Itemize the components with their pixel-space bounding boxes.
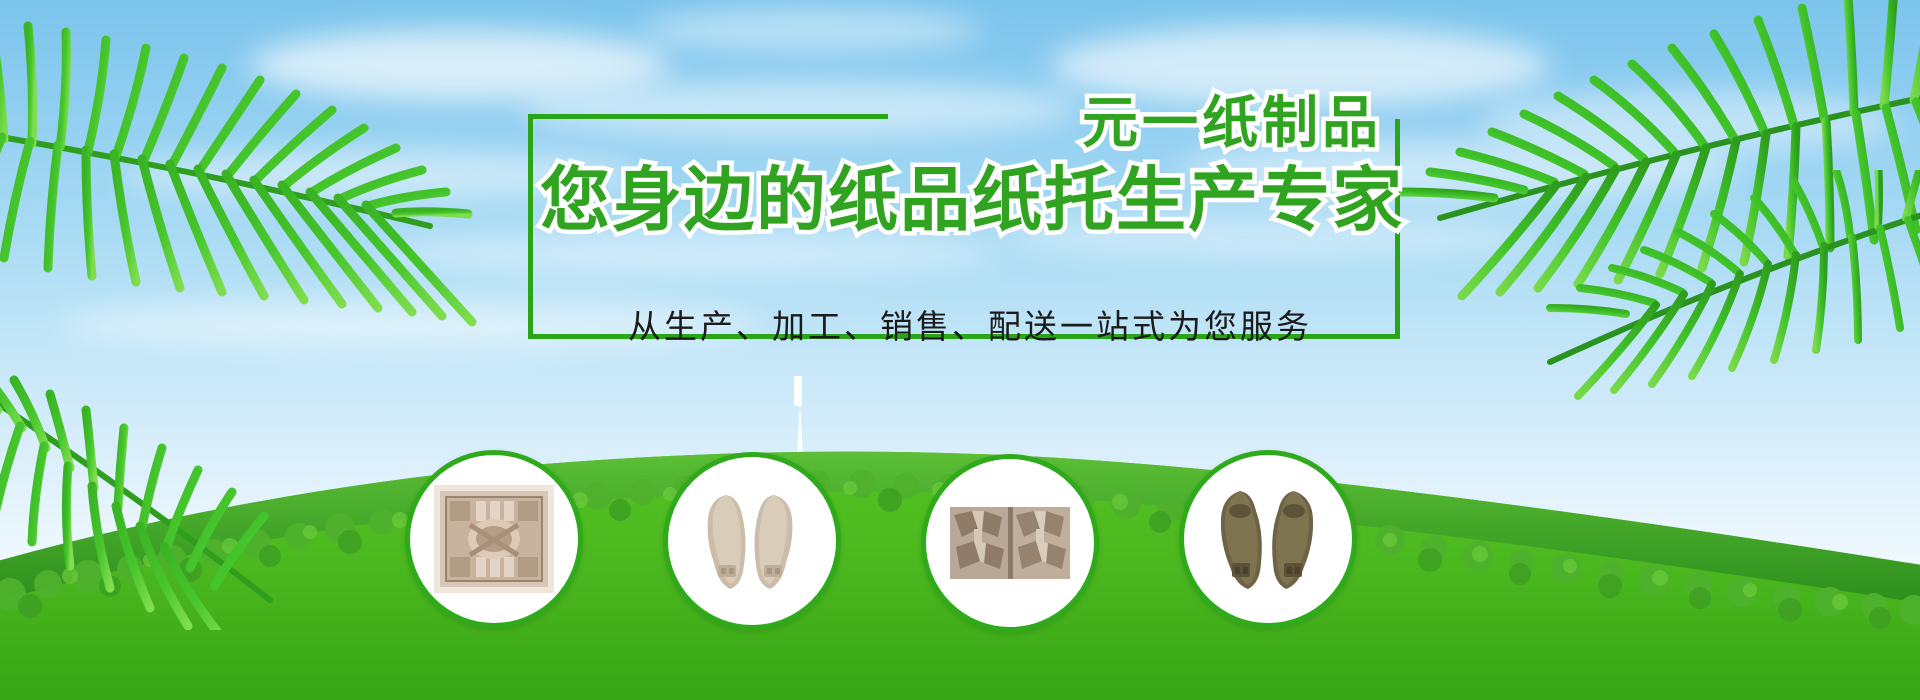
promotional-banner: 元一纸制品 您身边的纸品纸托生产专家 从生产、加工、销售、配送一站式为您服务: [0, 0, 1920, 700]
page-title: 您身边的纸品纸托生产专家: [540, 165, 1400, 235]
product-circle-3[interactable]: [921, 454, 1099, 632]
corner-trays-image: [948, 481, 1072, 605]
palm-frond-icon: [1520, 170, 1920, 430]
headline-block: 元一纸制品 您身边的纸品纸托生产专家: [540, 95, 1400, 235]
product-showcase: [405, 450, 1460, 650]
palm-frond-icon: [0, 330, 300, 630]
product-circle-1[interactable]: [405, 450, 583, 628]
dark-shoe-inserts-image: [1206, 477, 1330, 601]
product-circle-4[interactable]: [1179, 450, 1357, 628]
product-circle-2[interactable]: [663, 452, 841, 630]
brand-title: 元一纸制品: [540, 95, 1400, 151]
square-tray-image: [432, 477, 556, 601]
palm-frond-icon: [0, 0, 480, 340]
subtitle-text: 从生产、加工、销售、配送一站式为您服务: [540, 300, 1400, 348]
cloud-icon: [640, 8, 980, 52]
shoe-inserts-image: [690, 479, 814, 603]
